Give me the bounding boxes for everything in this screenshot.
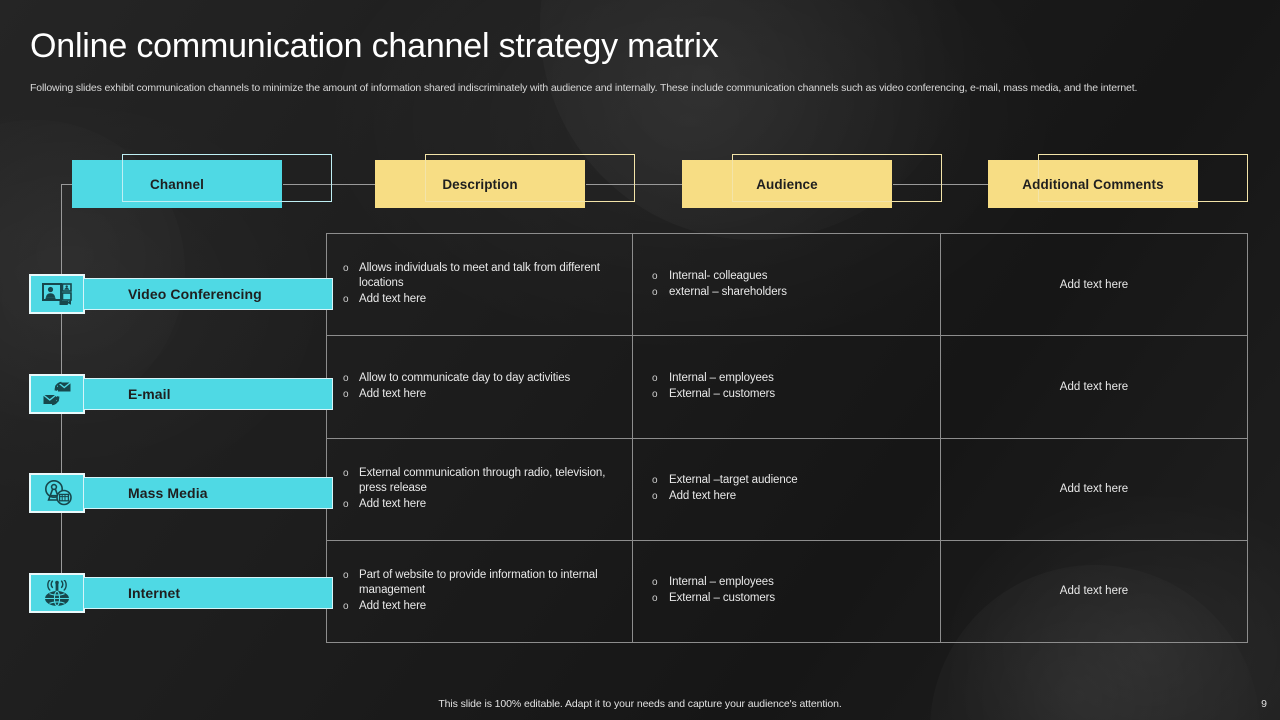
list-item: External communication through radio, te…: [341, 466, 618, 496]
list-item: Allow to communicate day to day activiti…: [341, 371, 618, 386]
list-item: External – customers: [647, 591, 926, 606]
list-item: External –target audience: [647, 473, 926, 488]
cell-description: Allow to communicate day to day activiti…: [327, 336, 633, 437]
list-item: Add text here: [341, 387, 618, 402]
channel-label: E-mail: [83, 378, 333, 410]
list-item: Internal – employees: [647, 371, 926, 386]
table-row: Part of website to provide information t…: [327, 541, 1247, 642]
list-item: Internal- colleagues: [647, 269, 926, 284]
cell-audience: Internal – employees External – customer…: [633, 541, 941, 642]
cell-audience: Internal – employees External – customer…: [633, 336, 941, 437]
table-row: External communication through radio, te…: [327, 439, 1247, 541]
cell-additional-comments: Add text here: [941, 439, 1247, 540]
bullet-list: Internal – employees External – customer…: [647, 371, 926, 403]
bullet-list: Part of website to provide information t…: [341, 568, 618, 615]
bullet-list: Internal – employees External – customer…: [647, 575, 926, 607]
table-row: Allows individuals to meet and talk from…: [327, 234, 1247, 336]
list-item: Part of website to provide information t…: [341, 568, 618, 598]
column-header-channel[interactable]: Channel: [72, 160, 282, 208]
channel-row-mass-media[interactable]: Mass Media: [29, 473, 333, 513]
page-subtitle: Following slides exhibit communication c…: [30, 81, 1255, 96]
bullet-list: Internal- colleagues external – sharehol…: [647, 269, 926, 301]
column-header-label: Additional Comments: [1022, 177, 1163, 192]
list-item: Internal – employees: [647, 575, 926, 590]
page-title: Online communication channel strategy ma…: [30, 27, 719, 66]
column-header-additional-comments[interactable]: Additional Comments: [988, 160, 1198, 208]
list-item: external – shareholders: [647, 285, 926, 300]
cell-additional-comments: Add text here: [941, 336, 1247, 437]
list-item: Allows individuals to meet and talk from…: [341, 261, 618, 291]
cell-additional-comments: Add text here: [941, 541, 1247, 642]
bullet-list: External –target audience Add text here: [647, 473, 926, 505]
list-item: Add text here: [341, 599, 618, 614]
channel-row-email[interactable]: E-mail: [29, 374, 333, 414]
footer-note: This slide is 100% editable. Adapt it to…: [0, 698, 1280, 710]
channel-label: Internet: [83, 577, 333, 609]
list-item: Add text here: [341, 497, 618, 512]
list-item: Add text here: [341, 292, 618, 307]
column-header-audience[interactable]: Audience: [682, 160, 892, 208]
column-header-label: Channel: [150, 177, 204, 192]
slide-canvas: Online communication channel strategy ma…: [0, 0, 1280, 720]
column-header-label: Audience: [756, 177, 818, 192]
channel-label: Video Conferencing: [83, 278, 333, 310]
page-number: 9: [1261, 698, 1267, 710]
strategy-matrix-table: Allows individuals to meet and talk from…: [326, 233, 1248, 643]
table-row: Allow to communicate day to day activiti…: [327, 336, 1247, 438]
bullet-list: Allow to communicate day to day activiti…: [341, 371, 618, 403]
cell-description: Allows individuals to meet and talk from…: [327, 234, 633, 335]
channel-row-internet[interactable]: Internet: [29, 573, 333, 613]
channel-row-video-conferencing[interactable]: Video Conferencing: [29, 274, 333, 314]
cell-audience: External –target audience Add text here: [633, 439, 941, 540]
mass-media-icon: [29, 473, 85, 513]
header-connector-3: [893, 184, 988, 185]
cell-description: Part of website to provide information t…: [327, 541, 633, 642]
video-conferencing-icon: [29, 274, 85, 314]
header-connector-1: [283, 184, 375, 185]
cell-description: External communication through radio, te…: [327, 439, 633, 540]
column-header-description[interactable]: Description: [375, 160, 585, 208]
header-connector-2: [586, 184, 682, 185]
bullet-list: External communication through radio, te…: [341, 466, 618, 513]
cell-audience: Internal- colleagues external – sharehol…: [633, 234, 941, 335]
internet-icon: [29, 573, 85, 613]
list-item: Add text here: [647, 489, 926, 504]
list-item: External – customers: [647, 387, 926, 402]
bullet-list: Allows individuals to meet and talk from…: [341, 261, 618, 308]
cell-additional-comments: Add text here: [941, 234, 1247, 335]
column-header-label: Description: [442, 177, 517, 192]
email-icon: [29, 374, 85, 414]
channel-label: Mass Media: [83, 477, 333, 509]
